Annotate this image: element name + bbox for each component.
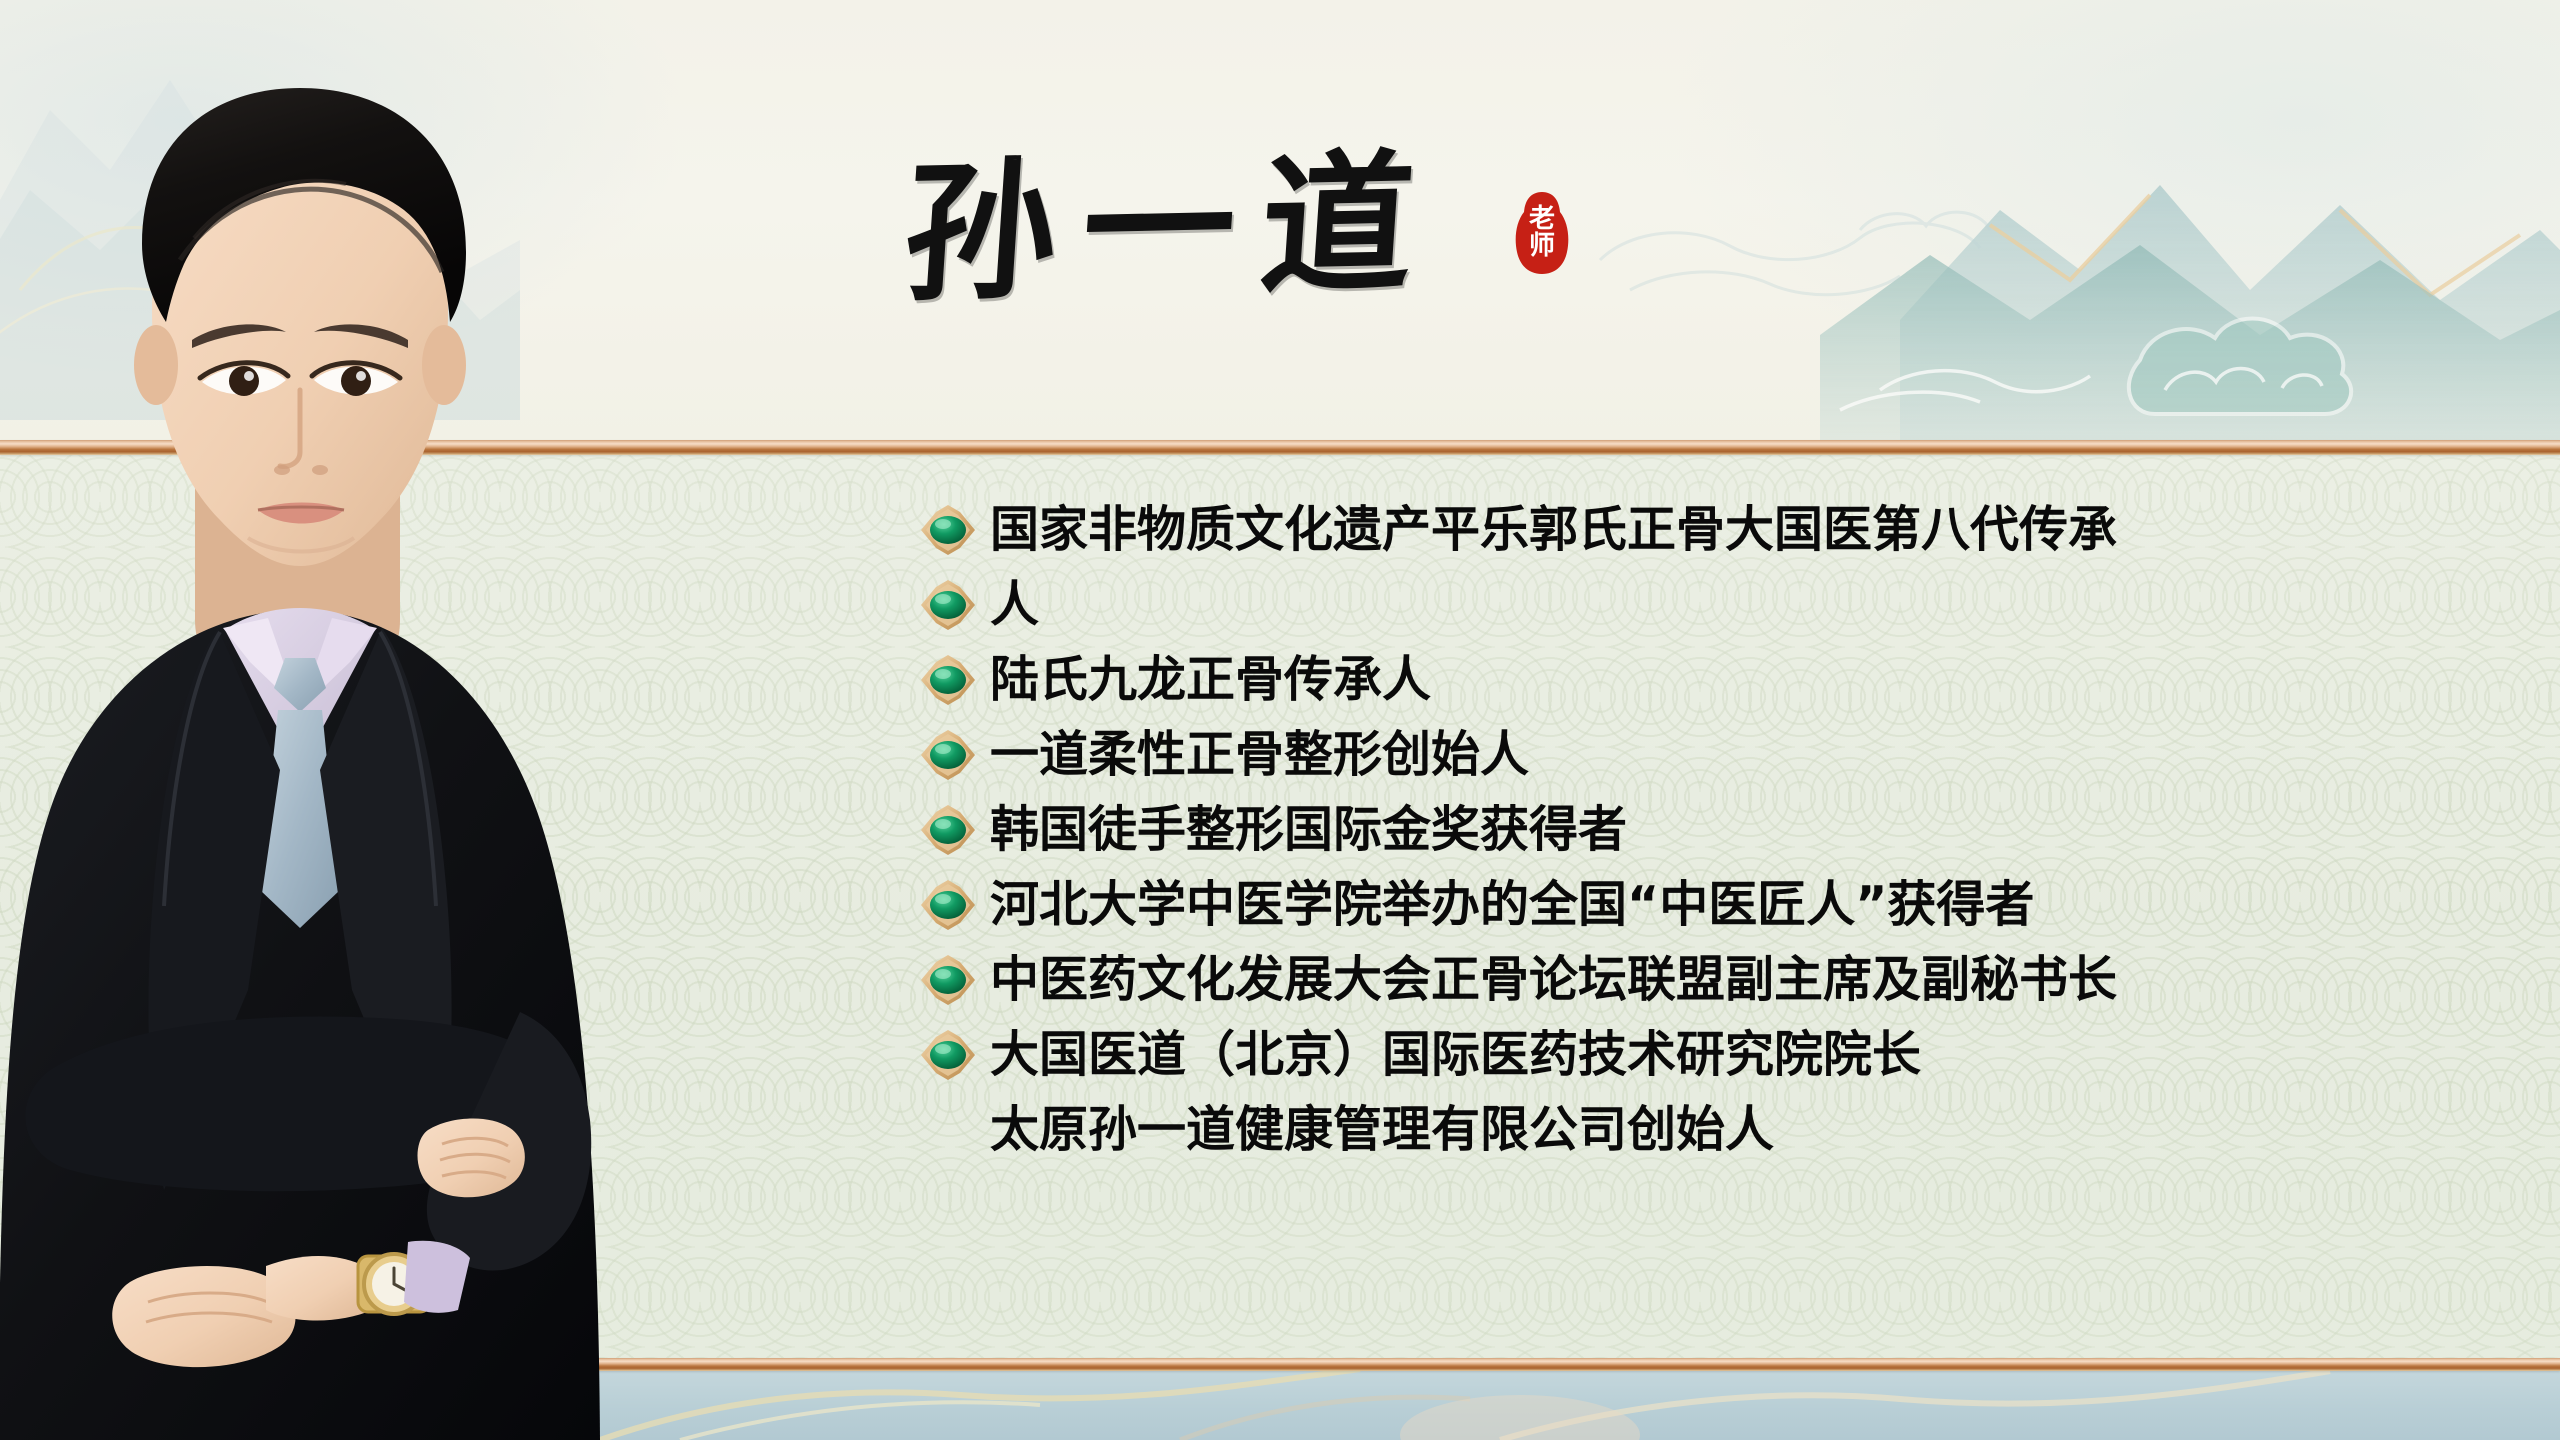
list-item: 一道柔性正骨整形创始人 [920,723,2540,786]
emerald-gem-icon [920,1029,976,1081]
emerald-gem-icon [920,879,976,931]
emerald-gem-icon [920,729,976,781]
credential-text: 韩国徒手整形国际金奖获得者 [990,805,1627,854]
list-item: 中医药文化发展大会正骨论坛联盟副主席及副秘书长 [920,948,2540,1011]
credential-text: 陆氏九龙正骨传承人 [990,655,1431,704]
credential-text: 国家非物质文化遗产平乐郭氏正骨大国医第八代传承 [990,505,2117,554]
credential-text: 中医药文化发展大会正骨论坛联盟副主席及副秘书长 [990,955,2117,1004]
credential-text: 大国医道（北京）国际医药技术研究院院长 [990,1030,1921,1079]
credential-text: 一道柔性正骨整形创始人 [990,730,1529,779]
credential-text: 太原孙一道健康管理有限公司创始人 [990,1105,1774,1154]
list-item: 大国医道（北京）国际医药技术研究院院长 [920,1023,2540,1086]
emerald-gem-icon [920,579,976,631]
credential-text: 河北大学中医学院举办的全国“中医匠人”获得者 [990,880,2034,929]
emerald-gem-icon [920,654,976,706]
emerald-gem-icon [920,804,976,856]
emerald-gem-icon [920,504,976,556]
red-seal-stamp: 老 师 [1513,190,1571,276]
list-item: 河北大学中医学院举办的全国“中医匠人”获得者 [920,873,2540,936]
credential-text: 人 [990,580,1039,629]
poster-canvas: 孙一道 老 师 [0,0,2560,1440]
seal-label: 老 师 [1513,190,1571,276]
portrait-photo [0,10,620,1440]
list-item: 太原孙一道健康管理有限公司创始人 [920,1098,2540,1161]
seal-char-top: 老 [1529,206,1555,233]
list-item: 韩国徒手整形国际金奖获得者 [920,798,2540,861]
emerald-gem-icon [920,954,976,1006]
list-item: 陆氏九龙正骨传承人 [920,648,2540,711]
ink-cloud-center-decoration [1560,120,2100,380]
list-item: 国家非物质文化遗产平乐郭氏正骨大国医第八代传承 [920,498,2540,561]
list-item: 人 [920,573,2540,636]
credentials-list: 国家非物质文化遗产平乐郭氏正骨大国医第八代传承 人 [920,498,2540,1173]
calligraphy-title-block: 孙一道 老 师 [905,150,1625,320]
seal-char-bottom: 师 [1529,233,1555,260]
